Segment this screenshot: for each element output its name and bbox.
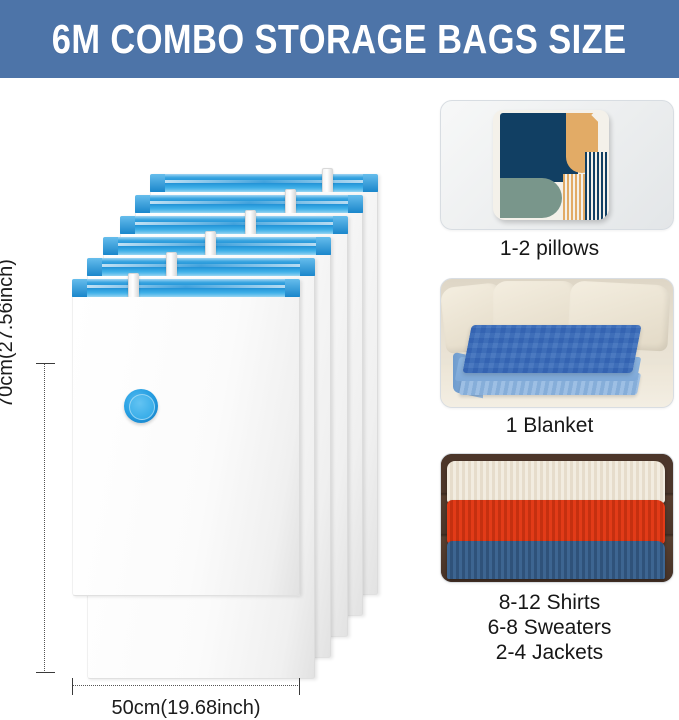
zipper-cap-left-2 [87, 258, 102, 277]
bag-zipper-4 [120, 216, 348, 235]
sweater-blue [447, 541, 665, 579]
storage-bag-1 [72, 279, 300, 596]
zipper-cap-left-4 [120, 216, 135, 235]
capacity-card-blanket [440, 278, 674, 408]
zipper-cap-right-6 [363, 174, 378, 193]
header-banner: 6M COMBO STORAGE BAGS SIZE [0, 0, 679, 78]
zipper-cap-left-3 [103, 237, 118, 256]
blanket-top-layer [462, 325, 641, 373]
bag-zipper-3 [103, 237, 331, 256]
zipper-cap-right-2 [300, 258, 315, 277]
bag-zipper-2 [87, 258, 315, 277]
caption-pillows: 1-2 pillows [420, 236, 679, 261]
capacity-card-pillows [440, 100, 674, 230]
zipper-cap-right-5 [348, 195, 363, 214]
caption-clothing-line-3: 2-4 Jackets [420, 640, 679, 665]
pillow-navy-stripes [585, 152, 609, 220]
dimension-tick-bottom [36, 672, 55, 673]
caption-clothing-line-2: 6-8 Sweaters [420, 615, 679, 640]
infographic-page: 6M COMBO STORAGE BAGS SIZE [0, 0, 679, 665]
height-dimension-line [44, 363, 46, 673]
pillow-tan-stripes [563, 174, 585, 220]
storage-bags-illustration: 70cm(27.56inch) 50cm(19.68inch) [0, 78, 420, 665]
caption-clothing-line-1: 8-12 Shirts [420, 590, 679, 615]
pillow-sage-arch [500, 178, 562, 218]
blanket-photo [441, 279, 673, 407]
width-dimension-line [72, 685, 300, 687]
sweaters-photo [441, 454, 673, 582]
caption-clothing: 8-12 Shirts 6-8 Sweaters 2-4 Jackets [420, 590, 679, 665]
decorative-pillow-image [493, 110, 609, 220]
zipper-cap-left-6 [150, 174, 165, 193]
capacity-card-clothing [440, 453, 674, 583]
height-dimension-label: 70cm(27.56inch) [0, 259, 18, 408]
air-valve-icon [124, 389, 158, 423]
sweater-cream [447, 461, 665, 503]
zipper-cap-right-1 [285, 279, 300, 298]
bag-body-1 [72, 297, 300, 596]
dimension-tick-top [36, 363, 55, 364]
dimension-tick-left [72, 678, 73, 695]
zipper-cap-left-1 [72, 279, 87, 298]
caption-blanket: 1 Blanket [420, 413, 679, 438]
width-dimension-label: 50cm(19.68inch) [72, 697, 300, 720]
zipper-cap-left-5 [135, 195, 150, 214]
bag-zipper-1 [72, 279, 300, 298]
bag-zipper-6 [150, 174, 378, 193]
page-title: 6M COMBO STORAGE BAGS SIZE [52, 16, 627, 63]
sweater-red [447, 500, 665, 544]
dimension-tick-right [299, 678, 300, 695]
zipper-cap-right-3 [316, 237, 331, 256]
zipper-cap-right-4 [333, 216, 348, 235]
